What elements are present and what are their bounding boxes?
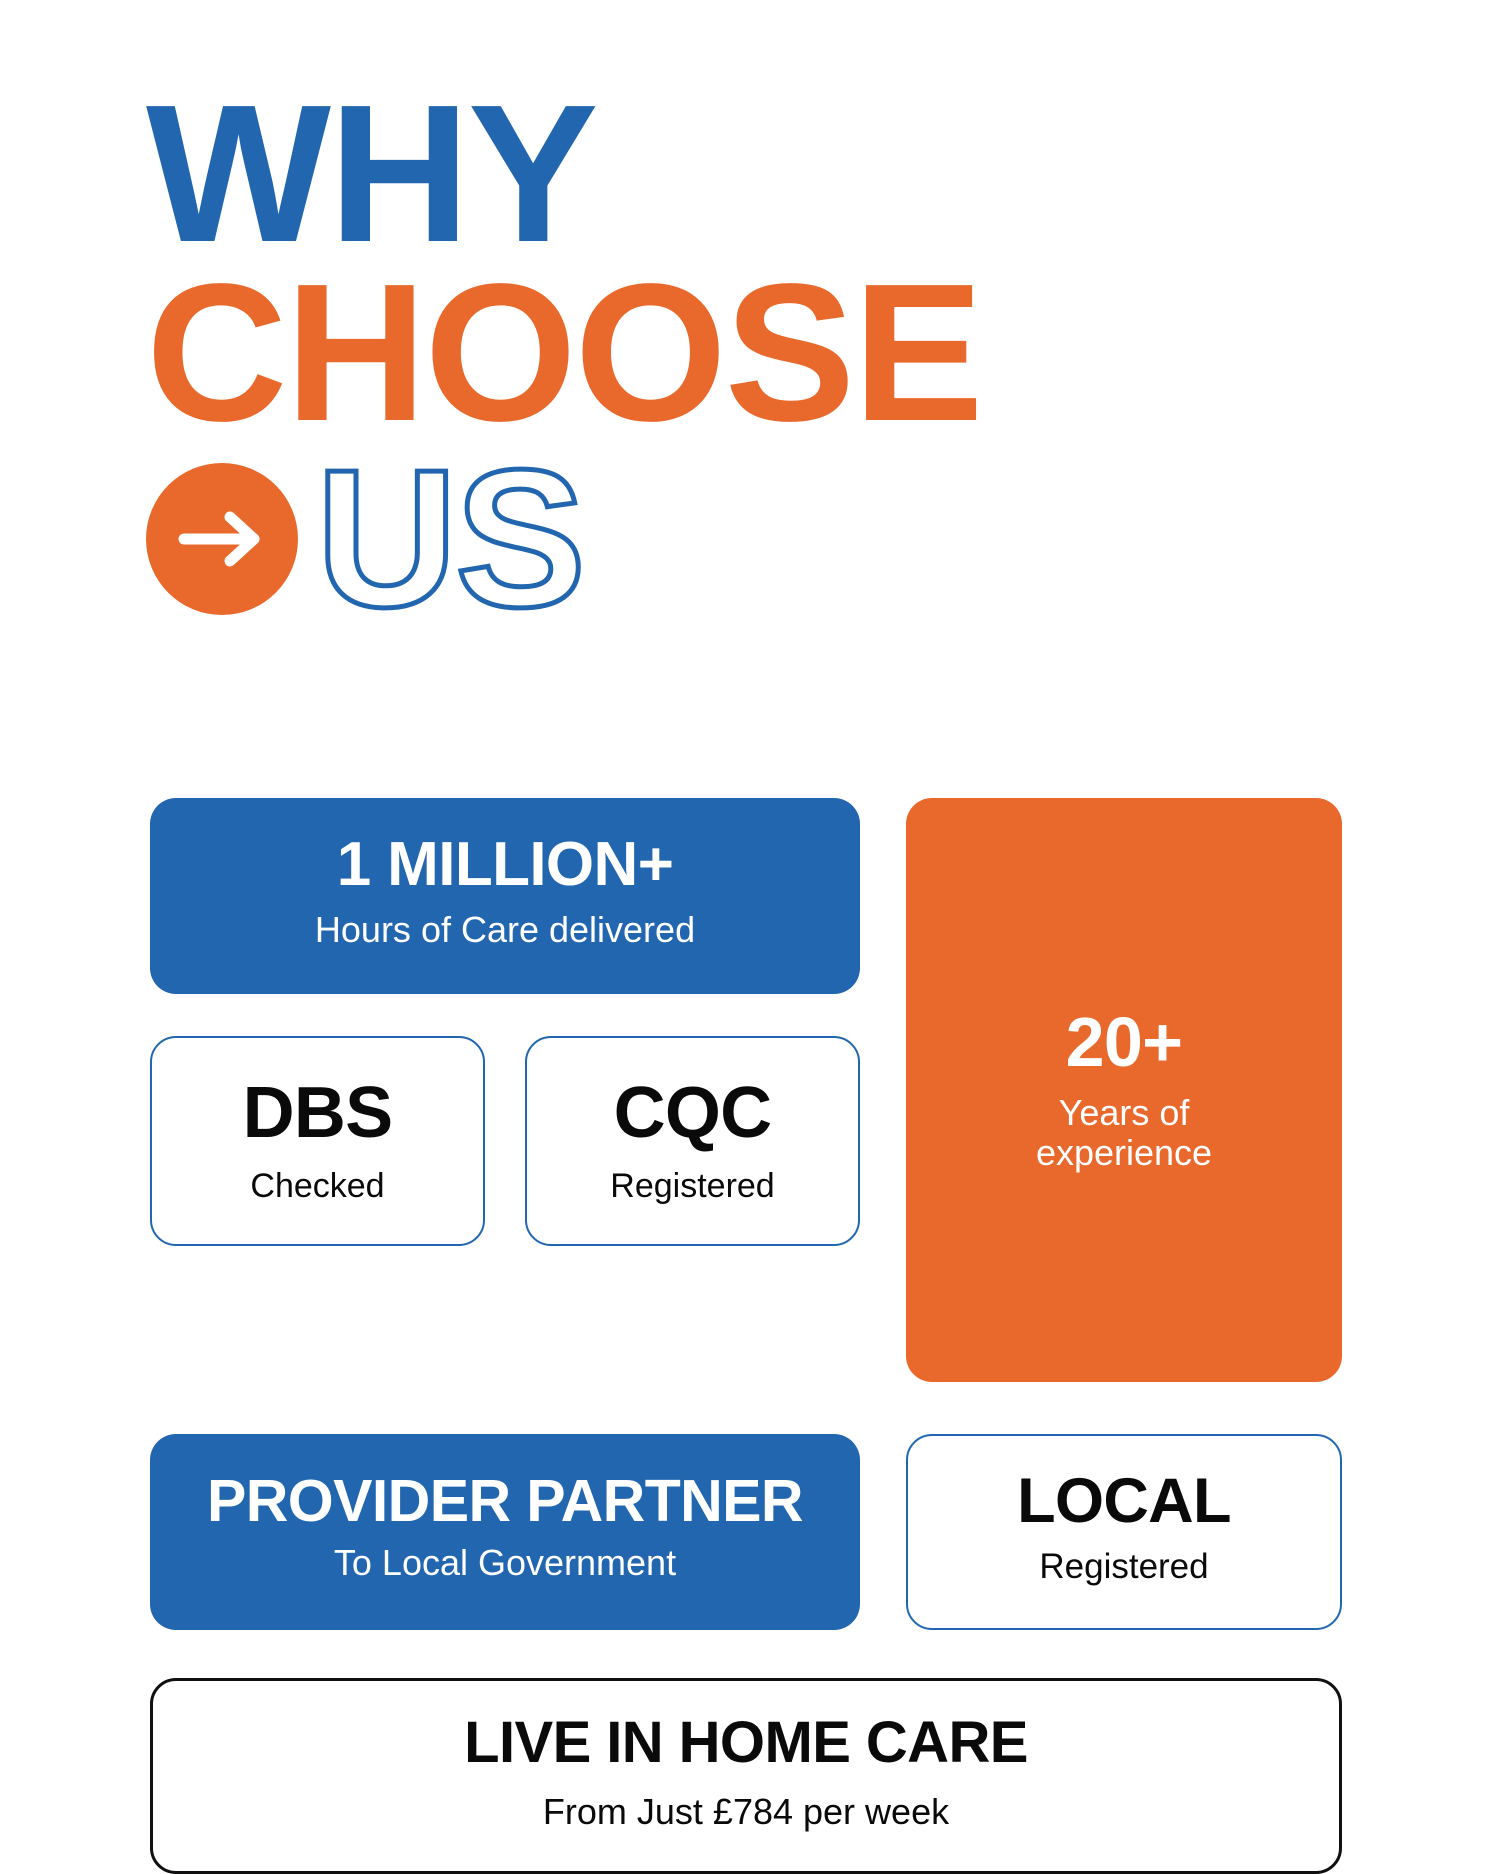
card-hours-of-care: 1 MILLION+ Hours of Care delivered bbox=[150, 798, 860, 994]
card-hours-of-care-subtitle: Hours of Care delivered bbox=[315, 910, 695, 950]
card-local-title: LOCAL bbox=[1017, 1470, 1231, 1533]
headline-us-row: US bbox=[140, 451, 1320, 627]
arrow-right-icon bbox=[146, 463, 298, 615]
card-hours-of-care-title: 1 MILLION+ bbox=[337, 834, 674, 896]
headline-why: WHY bbox=[146, 92, 1320, 257]
card-years-experience-subtitle-line2: experience bbox=[1036, 1133, 1212, 1173]
card-years-experience-title: 20+ bbox=[1066, 1007, 1183, 1077]
headline-block: WHY CHOOSE US bbox=[140, 92, 1320, 627]
provider-column: PROVIDER PARTNER To Local Government bbox=[150, 1434, 860, 1630]
card-live-in-home-care-title: LIVE IN HOME CARE bbox=[464, 1714, 1028, 1772]
card-dbs-title: DBS bbox=[243, 1077, 393, 1149]
card-years-experience-subtitle-line1: Years of bbox=[1036, 1093, 1212, 1133]
card-years-experience-subtitle: Years of experience bbox=[1036, 1093, 1212, 1174]
card-cqc-title: CQC bbox=[614, 1077, 772, 1149]
stats-row-bottom: LIVE IN HOME CARE From Just £784 per wee… bbox=[150, 1678, 1342, 1874]
local-column: LOCAL Registered bbox=[906, 1434, 1342, 1630]
card-years-experience: 20+ Years of experience bbox=[906, 798, 1342, 1382]
card-local-subtitle: Registered bbox=[1039, 1547, 1208, 1586]
card-dbs-subtitle: Checked bbox=[250, 1167, 384, 1205]
card-local: LOCAL Registered bbox=[906, 1434, 1342, 1630]
card-cqc: CQC Registered bbox=[525, 1036, 860, 1246]
stats-row-top: 1 MILLION+ Hours of Care delivered DBS C… bbox=[150, 798, 1342, 1382]
why-choose-us-poster: WHY CHOOSE US 1 MILLION+ Hours of Care d… bbox=[0, 0, 1485, 1856]
card-dbs: DBS Checked bbox=[150, 1036, 485, 1246]
card-cqc-subtitle: Registered bbox=[610, 1167, 774, 1205]
stats-left-column: 1 MILLION+ Hours of Care delivered DBS C… bbox=[150, 798, 860, 1382]
headline-us: US bbox=[316, 457, 584, 622]
card-live-in-home-care: LIVE IN HOME CARE From Just £784 per wee… bbox=[150, 1678, 1342, 1874]
stats-card-grid: 1 MILLION+ Hours of Care delivered DBS C… bbox=[150, 798, 1342, 1874]
card-provider-partner-title: PROVIDER PARTNER bbox=[207, 1472, 803, 1531]
stats-badge-row: DBS Checked CQC Registered bbox=[150, 1036, 860, 1246]
card-live-in-home-care-subtitle: From Just £784 per week bbox=[543, 1792, 949, 1832]
stats-row-middle: PROVIDER PARTNER To Local Government LOC… bbox=[150, 1434, 1342, 1630]
card-provider-partner-subtitle: To Local Government bbox=[334, 1543, 676, 1583]
stats-right-column: 20+ Years of experience bbox=[906, 798, 1342, 1382]
card-provider-partner: PROVIDER PARTNER To Local Government bbox=[150, 1434, 860, 1630]
headline-choose: CHOOSE bbox=[146, 271, 1320, 436]
